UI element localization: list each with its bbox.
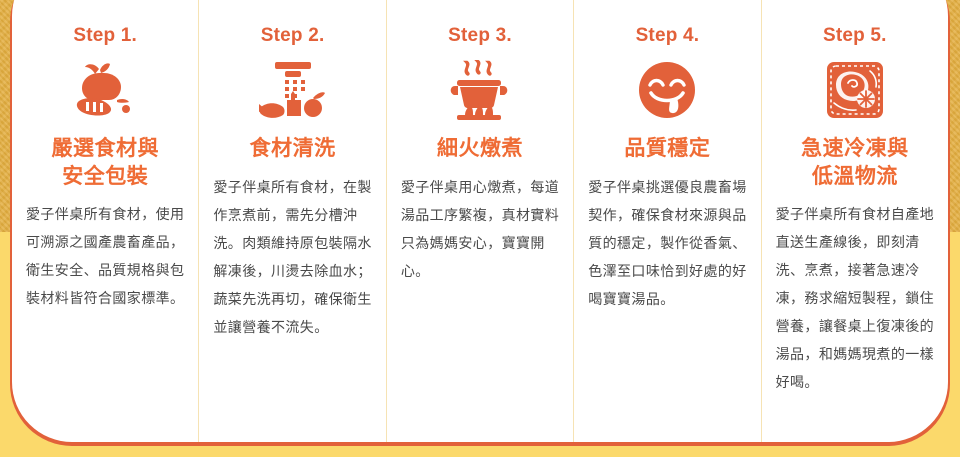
frozen-package-icon — [824, 59, 886, 121]
step-body-3: 愛子伴桌用心燉煮，每道湯品工序繁複，真材實料只為媽媽安心，寶寶開心。 — [401, 173, 559, 285]
step-label-3: Step 3. — [448, 26, 512, 45]
step-heading-4: 品質穩定 — [624, 135, 710, 163]
washing-vegetables-icon — [257, 59, 329, 121]
step-heading-3: 細火燉煮 — [437, 135, 523, 163]
steps-card: Step 1. 嚴選食材與 — [12, 0, 948, 442]
steps-columns: Step 1. 嚴選食材與 — [12, 0, 948, 442]
step-body-1: 愛子伴桌所有食材，使用可溯源之國產農畜產品，衛生安全、品質規格與包裝材料皆符合國… — [26, 200, 184, 312]
page-root: Step 1. 嚴選食材與 — [0, 0, 960, 457]
apple-carrot-icon — [69, 59, 141, 121]
smiling-face-tongue-icon — [637, 59, 697, 121]
step-label-2: Step 2. — [261, 26, 325, 45]
step-heading-1: 嚴選食材與 安全包裝 — [51, 135, 159, 190]
step-label-4: Step 4. — [636, 26, 700, 45]
step-body-4: 愛子伴桌挑選優良農畜場契作，確保食材來源與品質的穩定，製作從香氣、色澤至口味恰到… — [588, 173, 746, 313]
step-label-1: Step 1. — [73, 26, 137, 45]
step-column-4: Step 4. 品質穩定 愛子伴桌挑選優良農畜場契作，確保食材來源與品質的穩定，… — [574, 0, 761, 442]
simmering-pot-icon — [447, 59, 513, 121]
step-heading-2: 食材清洗 — [250, 135, 336, 163]
step-body-2: 愛子伴桌所有食材，在製作烹煮前，需先分槽沖洗。肉類維持原包裝隔水解凍後，川燙去除… — [213, 173, 371, 341]
step-column-1: Step 1. 嚴選食材與 — [12, 0, 199, 442]
step-label-5: Step 5. — [823, 26, 887, 45]
step-column-3: Step 3. — [387, 0, 574, 442]
step-column-2: Step 2. 食 — [199, 0, 386, 442]
step-body-5: 愛子伴桌所有食材自產地直送生產線後，即刻清洗、烹煮，接著急速冷凍，務求縮短製程，… — [776, 200, 934, 396]
step-column-5: Step 5. 急速冷凍與 — [762, 0, 948, 442]
step-heading-5: 急速冷凍與 低溫物流 — [801, 135, 909, 190]
